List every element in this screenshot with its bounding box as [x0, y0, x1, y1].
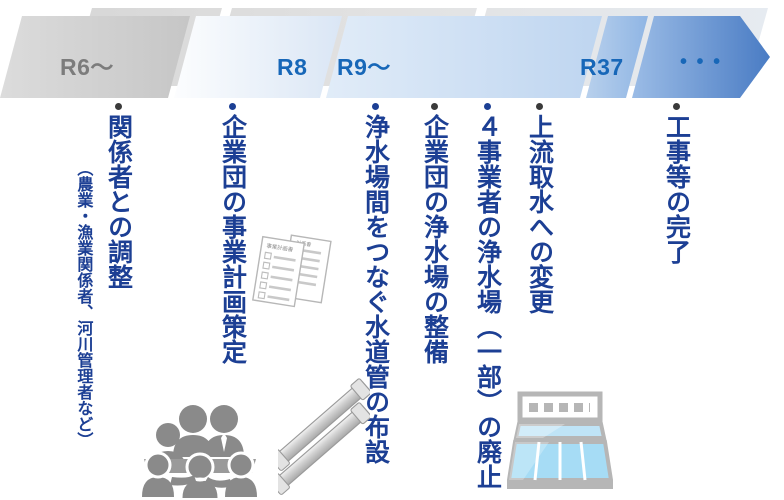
- item-label-plant-development: 企業団の浄水場の整備: [422, 114, 448, 364]
- timeline-segment-r8: [174, 16, 342, 98]
- business-plan-document-icon: 計画書 事業計画書: [252, 222, 336, 318]
- timeline-label-end: • • •: [680, 52, 722, 72]
- timeline-segments: [0, 16, 784, 100]
- timeline-band: R6～ R8 R9～ R37 • • •: [0, 0, 784, 100]
- item-label-completion: 工事等の完了: [664, 114, 690, 264]
- bullet-plant-development: [431, 103, 438, 110]
- bullet-plant-abolition: [484, 103, 491, 110]
- timeline-label-r37: R37: [580, 56, 624, 79]
- item-label-coordination: 関係者との調整: [106, 114, 132, 289]
- water-pipe-icon: [278, 378, 370, 496]
- timeline-label-r8: R8: [277, 56, 307, 79]
- timeline-label-r6: R6～: [60, 56, 114, 79]
- roadmap-diagram: R6～ R8 R9～ R37 • • • 関係者との調整 （農業・漁業関係者、河…: [0, 0, 784, 500]
- item-label-plant-abolition: ４事業者の浄水場（一部）の廃止: [475, 114, 501, 489]
- bullet-coordination: [115, 103, 122, 110]
- item-label-upstream-intake: 上流取水への変更: [527, 114, 553, 314]
- bullet-upstream-intake: [536, 103, 543, 110]
- bullet-pipe-laying: [372, 103, 379, 110]
- item-sublabel-coordination: （農業・漁業関係者、河川管理者など）: [75, 160, 91, 448]
- bullet-completion: [673, 103, 680, 110]
- water-treatment-plant-icon: [507, 388, 613, 500]
- item-label-business-plan: 企業団の事業計画策定: [220, 114, 246, 364]
- meeting-people-icon: [142, 393, 260, 498]
- timeline-label-r9: R9～: [337, 56, 391, 79]
- bullet-business-plan: [229, 103, 236, 110]
